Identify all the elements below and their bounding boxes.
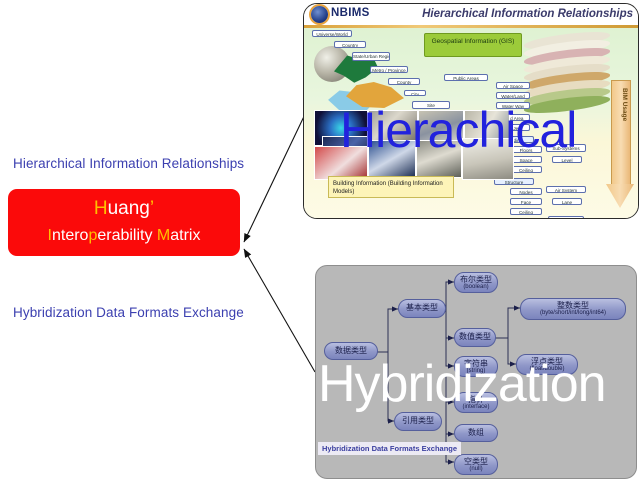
tree-node-air-system: Air System <box>546 186 586 193</box>
tree-node-ceiling-2: Ceiling <box>510 208 542 215</box>
tree-node-public-areas: Public Areas <box>444 74 488 81</box>
interoperability-matrix-label: Interoperability Matrix <box>8 227 240 245</box>
huang-interoperability-matrix-box[interactable]: Huang’ Interoperability Matrix <box>8 189 240 256</box>
hybridization-caption: Hybridization Data Formats Exchange <box>318 442 461 455</box>
slide-canvas: Hierarchical Information Relationships H… <box>0 0 640 480</box>
tree-node-city: City <box>404 90 426 96</box>
node-array-type: 数组 <box>454 424 498 442</box>
left-label-hybridization: Hybridization Data Formats Exchange <box>13 305 244 320</box>
panel-title-hierarchical: Hierarchical Information Relationships <box>422 8 633 20</box>
hierarchical-information-panel[interactable]: NBIMS Hierarchical Information Relations… <box>303 3 639 219</box>
bim-usage-label: BIM Usage <box>612 88 628 121</box>
geospatial-information-box: Geospatial Information (GIS) <box>424 33 522 57</box>
nbims-logo-icon <box>311 6 328 23</box>
watermark-hierachical: Hierachical <box>340 101 576 159</box>
node-basic-type: 基本类型 <box>398 299 446 318</box>
tree-node-face: Face <box>510 198 542 205</box>
node-boolean-type: 布尔类型 (boolean) <box>454 272 498 293</box>
tree-node-lane: Lane <box>552 198 582 205</box>
left-label-hierarchical: Hierarchical Information Relationships <box>13 156 244 171</box>
tree-node-country: Country <box>334 41 366 48</box>
node-reference-type: 引用类型 <box>394 412 442 431</box>
nbims-wordmark: NBIMS <box>331 7 370 19</box>
hierarchical-diagram-body: Geospatial Information (GIS) Universe/Wo… <box>304 28 638 218</box>
tree-node-nodes: Nodes <box>510 188 542 195</box>
tree-node-county: County <box>388 78 420 85</box>
bim-usage-arrow: BIM Usage <box>606 80 634 208</box>
building-information-note: Building Information (Building Informati… <box>328 176 454 198</box>
huang-label: Huang’ <box>8 198 240 220</box>
tree-node-universe: Universe/World <box>312 30 352 37</box>
hybridization-panel[interactable]: 数据类型 基本类型 布尔类型 (boolean) 数值类型 整数类型 (byte… <box>315 265 637 479</box>
tree-node-state: State/Urban Region <box>352 52 390 61</box>
nbims-header-bar: NBIMS Hierarchical Information Relations… <box>304 4 638 26</box>
node-null-type: 空类型 (null) <box>454 454 498 475</box>
node-numeric-type: 数值类型 <box>454 328 496 347</box>
tree-node-air-space: Air Space <box>496 82 530 89</box>
tree-node-water-land: Water/Land <box>496 92 530 99</box>
tree-node-metro: Metro / Province <box>370 66 408 73</box>
tree-node-ceiling: Ceiling <box>510 166 542 173</box>
tree-node-node: Node <box>548 216 584 219</box>
node-integer-type: 整数类型 (byte/short/int/long/int64) <box>520 298 626 320</box>
watermark-hybridization: Hybridization <box>318 354 606 414</box>
